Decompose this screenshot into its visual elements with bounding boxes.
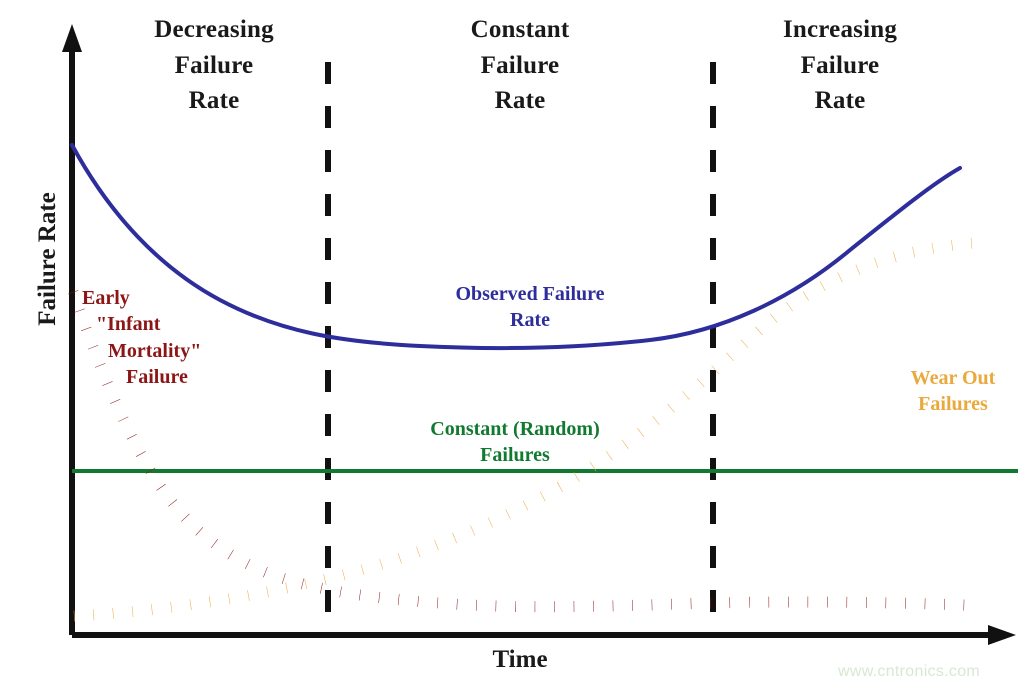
region-title-increasing: Increasing Failure Rate (756, 12, 924, 119)
early-label-line1: Early (82, 285, 242, 311)
region-increasing-line2: Failure (801, 52, 880, 79)
region-title-constant: Constant Failure Rate (436, 12, 604, 119)
x-axis (72, 625, 1016, 645)
region-constant-line3: Rate (495, 87, 546, 114)
wearout-label-line2: Failures (918, 393, 988, 415)
y-axis-title: Failure Rate (34, 169, 62, 349)
region-constant-line1: Constant (471, 16, 570, 43)
observed-label-line2: Rate (510, 309, 550, 331)
early-label-line4: Failure (82, 364, 242, 390)
bathtub-curve-chart: Decreasing Failure Rate Constant Failure… (0, 0, 1024, 695)
early-label-line3: Mortality" (82, 338, 242, 364)
region-decreasing-line3: Rate (189, 87, 240, 114)
region-decreasing-line2: Failure (175, 52, 254, 79)
region-increasing-line3: Rate (815, 87, 866, 114)
observed-label-line1: Observed Failure (455, 283, 604, 305)
y-axis (62, 24, 82, 635)
early-label-line2: "Infant (82, 311, 242, 337)
region-decreasing-line1: Decreasing (154, 16, 274, 43)
constant-label-line1: Constant (Random) (430, 418, 599, 440)
region-constant-line2: Failure (481, 52, 560, 79)
x-axis-title: Time (400, 646, 640, 674)
early-infant-mortality-label: Early "Infant Mortality" Failure (82, 285, 242, 391)
wear-out-failures-label: Wear Out Failures (888, 365, 1018, 418)
observed-failure-rate-label: Observed Failure Rate (430, 281, 630, 334)
region-increasing-line1: Increasing (783, 16, 897, 43)
constant-random-failures-label: Constant (Random) Failures (400, 416, 630, 469)
constant-label-line2: Failures (480, 444, 550, 466)
region-title-decreasing: Decreasing Failure Rate (130, 12, 298, 119)
wearout-label-line1: Wear Out (911, 367, 996, 389)
watermark: www.cntronics.com (838, 663, 980, 681)
